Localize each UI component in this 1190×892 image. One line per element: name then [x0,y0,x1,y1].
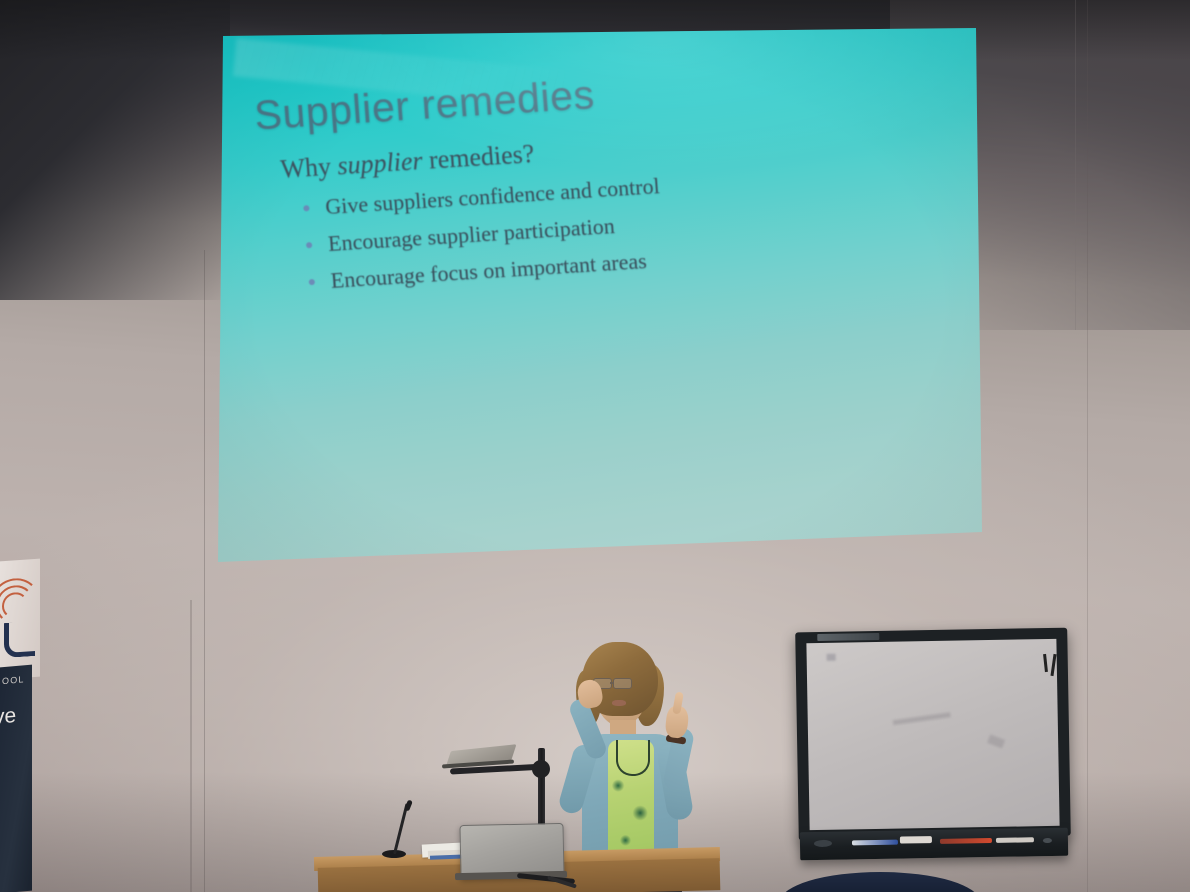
marker-pen-white[interactable] [900,836,932,844]
wall-seam [190,600,192,892]
banner-upper-panel [0,559,40,680]
slide-subheading-before: Why [279,151,338,184]
whiteboard-smudge [827,654,836,661]
slide-subheading-italic: supplier [336,146,423,180]
marker-pen-blue[interactable] [852,840,898,846]
banner-lower-panel: OOL ve [0,665,32,892]
presenter-necklace [616,740,650,776]
whiteboard-smudge [987,735,1005,749]
gooseneck-microphone[interactable] [376,802,416,862]
microphone-capsule [404,799,413,811]
slide-subheading: Why supplier remedies? [279,139,535,185]
slide-bullet-list: Give suppliers confidence and control En… [298,173,666,306]
tray-port [1043,838,1052,843]
slide-subheading-after: remedies? [421,139,535,175]
projection-screen: Supplier remedies Why supplier remedies?… [216,28,982,562]
wall-seam [1075,0,1076,330]
banner-word-text: ve [0,704,16,730]
whiteboard-frame [795,628,1071,841]
presenter-mouth [612,700,626,706]
roll-up-banner: OOL ve [0,560,44,892]
banner-school-text: OOL [2,674,25,686]
tray-eraser[interactable] [814,840,832,847]
whiteboard-brand-logo-icon [817,633,879,641]
whiteboard-smudge [893,712,951,725]
laptop[interactable] [455,824,565,892]
glasses-bridge-icon [610,682,614,684]
wall-seam [1087,0,1088,892]
glasses-lens-right-icon [613,678,632,689]
presentation-slide: Supplier remedies Why supplier remedies?… [208,0,1012,566]
slide-title: Supplier remedies [253,71,596,139]
lamp-pivot-joint[interactable] [532,760,550,778]
letter-j-logo-icon [4,621,35,658]
whiteboard-surface[interactable] [806,639,1059,830]
wall-seam [204,250,205,892]
whiteboard-pen-tray[interactable] [800,828,1068,861]
marker-pen-red[interactable] [940,838,992,844]
interactive-whiteboard[interactable] [797,630,1069,860]
marker-pen-grey[interactable] [996,837,1034,843]
lecture-hall-photo: Supplier remedies Why supplier remedies?… [0,0,1190,892]
